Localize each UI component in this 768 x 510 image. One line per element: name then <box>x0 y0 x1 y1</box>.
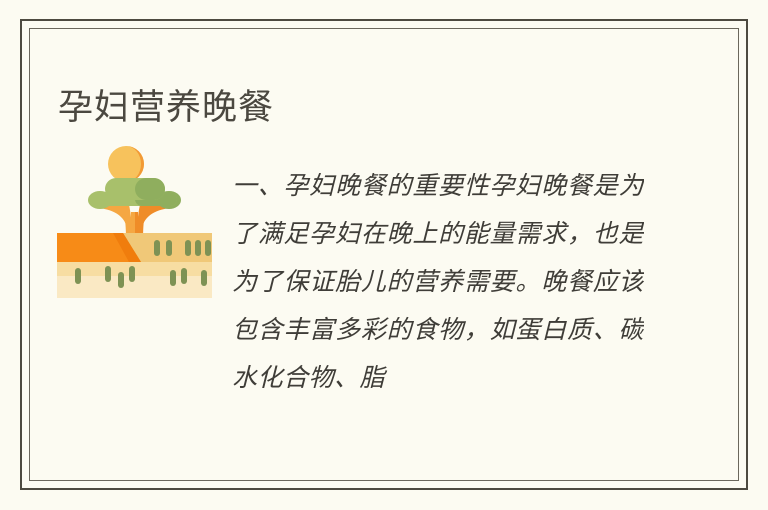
savanna-illustration-svg <box>57 140 212 298</box>
sun-icon <box>108 146 144 182</box>
article-page: 孕妇营养晚餐 <box>0 0 768 510</box>
savanna-landscape-illustration <box>57 140 212 298</box>
article-body-text: 一、孕妇晚餐的重要性孕妇晚餐是为了满足孕妇在晚上的能量需求，也是为了保证胎儿的营… <box>232 162 644 402</box>
page-title: 孕妇营养晚餐 <box>58 85 274 131</box>
